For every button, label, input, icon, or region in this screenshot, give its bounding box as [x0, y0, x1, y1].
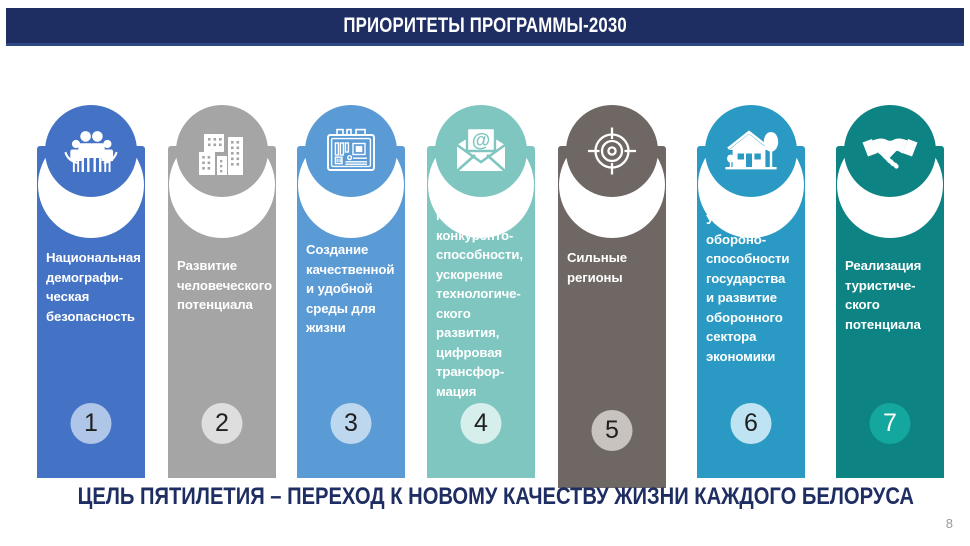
priority-column-5[interactable]: Сильные регионы5: [558, 98, 666, 458]
priority-label: Развитие человеческого потенциала: [177, 256, 273, 315]
house-tree-icon: [722, 127, 780, 175]
circuit-board-icon: [323, 126, 379, 176]
circuit-board-icon-circle: [305, 105, 397, 197]
priority-column-1[interactable]: Национальная демографи- ческая безопасно…: [37, 98, 145, 458]
handshake-icon: [861, 131, 919, 171]
buildings-icon: [195, 127, 249, 175]
priority-column-2[interactable]: Развитие человеческого потенциала2: [168, 98, 276, 458]
priorities-columns: Национальная демографи- ческая безопасно…: [0, 98, 970, 458]
header-band: ПРИОРИТЕТЫ ПРОГРАММЫ-2030: [6, 8, 964, 46]
email-at-icon-circle: @: [435, 105, 527, 197]
priority-column-7[interactable]: Реализация туристиче- ского потенциала7: [836, 98, 944, 458]
priority-column-4[interactable]: @ Рост конкуренто- способности, ускорени…: [427, 98, 535, 458]
priority-label: Реализация туристиче- ского потенциала: [845, 256, 941, 334]
priority-column-3[interactable]: Создание качественной и удобной среды дл…: [297, 98, 405, 458]
buildings-icon-circle: [176, 105, 268, 197]
svg-text:@: @: [472, 131, 491, 152]
family-icon: [64, 128, 118, 174]
page-number: 8: [946, 516, 953, 531]
priority-number-badge: 3: [331, 403, 372, 444]
page-title: ПРИОРИТЕТЫ ПРОГРАММЫ-2030: [343, 14, 626, 38]
family-icon-circle: [45, 105, 137, 197]
priority-label: Создание качественной и удобной среды дл…: [306, 240, 402, 338]
target-icon-circle: [566, 105, 658, 197]
priority-number-badge: 6: [731, 403, 772, 444]
priority-number-badge: 7: [870, 403, 911, 444]
handshake-icon-circle: [844, 105, 936, 197]
priority-label: Укрепление обороно- способности государс…: [706, 210, 802, 366]
priority-number-badge: 4: [461, 403, 502, 444]
house-tree-icon-circle: [705, 105, 797, 197]
priority-label: Национальная демографи- ческая безопасно…: [46, 248, 142, 326]
footer-caption: ЦЕЛЬ ПЯТИЛЕТИЯ – ПЕРЕХОД К НОВОМУ КАЧЕСТ…: [78, 483, 893, 511]
priority-number-badge: 1: [71, 403, 112, 444]
target-icon: [585, 125, 639, 177]
priority-label: Рост конкуренто- способности, ускорение …: [436, 206, 532, 401]
priority-label: Сильные регионы: [567, 248, 663, 287]
priority-number-badge: 2: [202, 403, 243, 444]
priority-number-badge: 5: [592, 410, 633, 451]
email-at-icon: @: [453, 127, 509, 175]
priority-column-6[interactable]: Укрепление обороно- способности государс…: [697, 98, 805, 458]
